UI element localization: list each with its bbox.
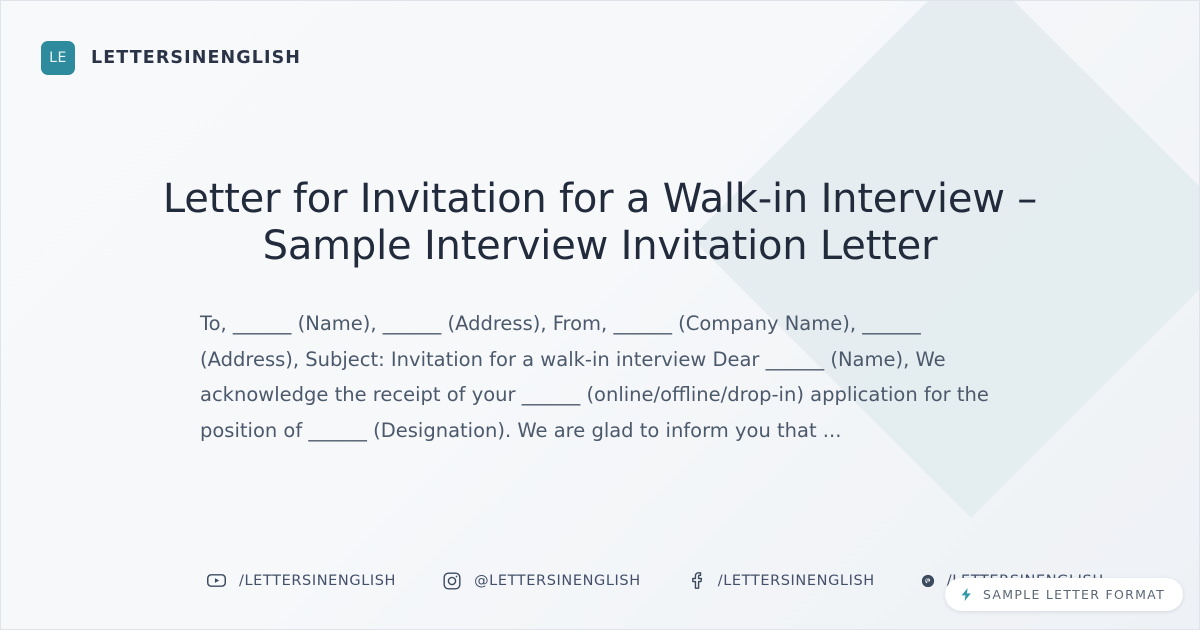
social-handle-instagram: @LETTERSINENGLISH — [474, 573, 641, 589]
article-excerpt: To, ______ (Name), ______ (Address), Fro… — [200, 306, 1000, 448]
facebook-icon — [687, 570, 706, 591]
pinterest-icon — [921, 574, 935, 588]
instagram-icon — [442, 571, 462, 591]
badge-label: SAMPLE LETTER FORMAT — [983, 587, 1165, 602]
lightning-bolt-icon — [959, 586, 974, 603]
social-handle-facebook: /LETTERSINENGLISH — [718, 573, 875, 589]
site-brand-name: LETTERSINENGLISH — [91, 48, 301, 68]
social-handle-youtube: /LETTERSINENGLISH — [239, 573, 396, 589]
social-link-facebook[interactable]: /LETTERSINENGLISH — [687, 570, 875, 591]
site-header: LE LETTERSINENGLISH — [41, 41, 301, 75]
social-share-card: LE LETTERSINENGLISH Letter for Invitatio… — [0, 0, 1200, 630]
site-logo-badge[interactable]: LE — [41, 41, 75, 75]
youtube-icon — [206, 570, 227, 591]
page-title: Letter for Invitation for a Walk-in Inte… — [101, 176, 1099, 270]
sample-letter-format-badge[interactable]: SAMPLE LETTER FORMAT — [945, 578, 1183, 611]
social-link-instagram[interactable]: @LETTERSINENGLISH — [442, 571, 641, 591]
social-link-youtube[interactable]: /LETTERSINENGLISH — [206, 570, 396, 591]
card-main-content: Letter for Invitation for a Walk-in Inte… — [1, 176, 1199, 448]
